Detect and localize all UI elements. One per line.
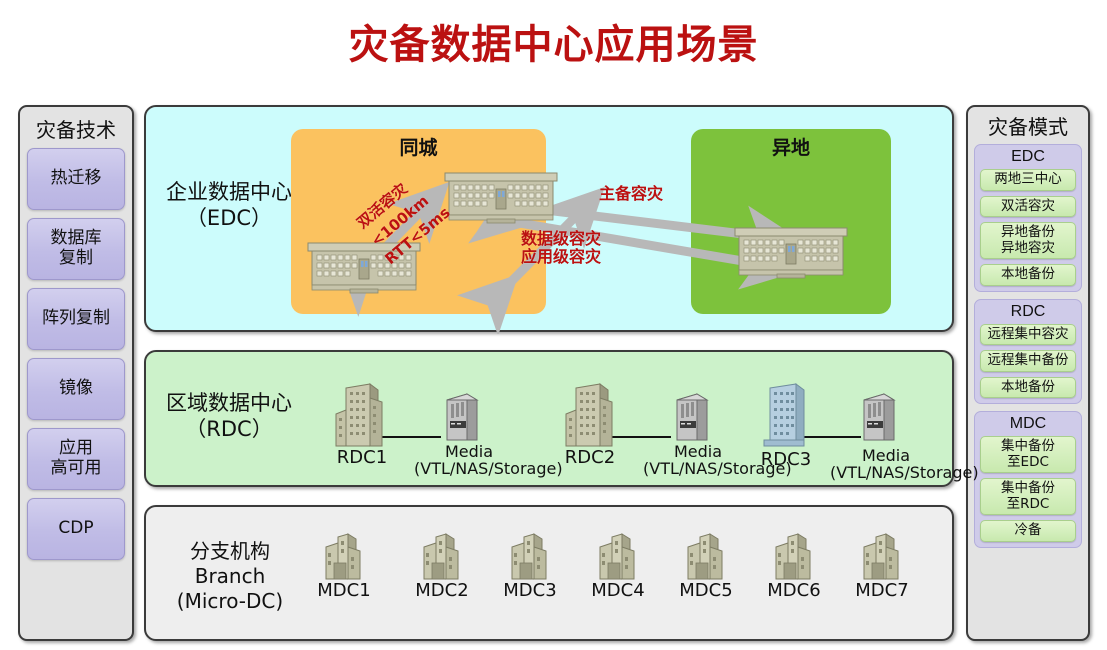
tech-chip-cdp[interactable]: CDP	[27, 498, 125, 560]
mode-panel-title: 灾备模式	[974, 110, 1082, 144]
mode-chip-centralized-backup-to-rdc[interactable]: 集中备份 至RDC	[980, 478, 1076, 515]
tech-chip-array-replication[interactable]: 阵列复制	[27, 288, 125, 350]
edc-section: 企业数据中心 （EDC） 同城 异地	[144, 105, 954, 332]
node-label-mdc5: MDC5	[658, 581, 754, 601]
mode-group-rdc: RDC 远程集中容灾 远程集中备份 本地备份	[974, 299, 1082, 405]
tech-chip-mirroring[interactable]: 镜像	[27, 358, 125, 420]
tech-panel-title: 灾备技术	[27, 111, 125, 148]
mdc-section-label: 分支机构 Branch (Micro-DC)	[150, 539, 310, 614]
building-icon-rdc2	[560, 380, 622, 452]
mode-group-mdc-title: MDC	[980, 414, 1076, 436]
node-label-mdc3: MDC3	[482, 581, 578, 601]
node-label-rdc2: RDC2	[554, 448, 626, 468]
building-icon-mdc6	[768, 533, 818, 585]
tech-chip-application-ha[interactable]: 应用 高可用	[27, 428, 125, 490]
mode-chip-two-site-three-center[interactable]: 两地三中心	[980, 169, 1076, 191]
arrow-label-primary-standby-dr: 主备容灾	[599, 185, 663, 203]
disaster-recovery-mode-panel: 灾备模式 EDC 两地三中心 双活容灾 异地备份 异地容灾 本地备份 RDC 远…	[966, 105, 1090, 641]
mode-chip-remote-centralized-backup[interactable]: 远程集中备份	[980, 350, 1076, 372]
zone-same-city-title: 同城	[291, 133, 546, 160]
rdc-section: 区域数据中心 （RDC） RDC1 Me	[144, 350, 954, 487]
mode-group-rdc-title: RDC	[980, 302, 1076, 324]
node-label-mdc7: MDC7	[834, 581, 930, 601]
mode-chip-centralized-backup-to-edc[interactable]: 集中备份 至EDC	[980, 436, 1076, 473]
building-icon-mdc1	[318, 533, 368, 585]
building-icon-mdc4	[592, 533, 642, 585]
server-icon-rdc3-media	[858, 390, 904, 446]
node-label-rdc1: RDC1	[326, 448, 398, 468]
tech-chip-database-replication[interactable]: 数据库 复制	[27, 218, 125, 280]
building-icon-mdc5	[680, 533, 730, 585]
disaster-recovery-technology-panel: 灾备技术 热迁移 数据库 复制 阵列复制 镜像 应用 高可用 CDP	[18, 105, 134, 641]
server-icon-rdc1-media	[441, 390, 487, 446]
mode-group-mdc: MDC 集中备份 至EDC 集中备份 至RDC 冷备	[974, 411, 1082, 548]
building-icon-rdc1	[330, 380, 392, 452]
server-icon-rdc2-media	[671, 390, 717, 446]
rdc-section-label: 区域数据中心 （RDC）	[154, 390, 304, 443]
building-icon-rdc3	[756, 380, 818, 452]
media-label-rdc2: Media (VTL/NAS/Storage)	[643, 444, 753, 478]
media-label-rdc3: Media (VTL/NAS/Storage)	[830, 448, 942, 482]
edc-section-label: 企业数据中心 （EDC）	[154, 179, 304, 232]
arrow-label-data-and-app-level-dr: 数据级容灾 应用级容灾	[521, 230, 601, 267]
mdc-section: 分支机构 Branch (Micro-DC) MDC1 MDC2 MDC3	[144, 505, 954, 641]
tech-chip-hot-migration[interactable]: 热迁移	[27, 148, 125, 210]
node-label-rdc3: RDC3	[750, 450, 822, 470]
mode-chip-local-backup-rdc[interactable]: 本地备份	[980, 377, 1076, 399]
mode-group-edc: EDC 两地三中心 双活容灾 异地备份 异地容灾 本地备份	[974, 144, 1082, 292]
building-icon-mdc3	[504, 533, 554, 585]
zone-remote-city-title: 异地	[691, 133, 891, 160]
node-label-mdc1: MDC1	[296, 581, 392, 601]
mode-group-edc-title: EDC	[980, 147, 1076, 169]
mode-chip-cold-standby[interactable]: 冷备	[980, 520, 1076, 542]
building-icon-mdc7	[856, 533, 906, 585]
mode-chip-local-backup-edc[interactable]: 本地备份	[980, 264, 1076, 286]
page-title: 灾备数据中心应用场景	[0, 12, 1107, 70]
node-label-mdc2: MDC2	[394, 581, 490, 601]
mode-chip-active-active-dr[interactable]: 双活容灾	[980, 196, 1076, 218]
media-label-rdc1: Media (VTL/NAS/Storage)	[414, 444, 524, 478]
node-label-mdc4: MDC4	[570, 581, 666, 601]
zone-remote-city: 异地	[691, 129, 891, 314]
building-icon-mdc2	[416, 533, 466, 585]
mode-chip-remote-centralized-dr[interactable]: 远程集中容灾	[980, 324, 1076, 346]
node-label-mdc6: MDC6	[746, 581, 842, 601]
mode-chip-remote-backup-remote-dr[interactable]: 异地备份 异地容灾	[980, 222, 1076, 259]
